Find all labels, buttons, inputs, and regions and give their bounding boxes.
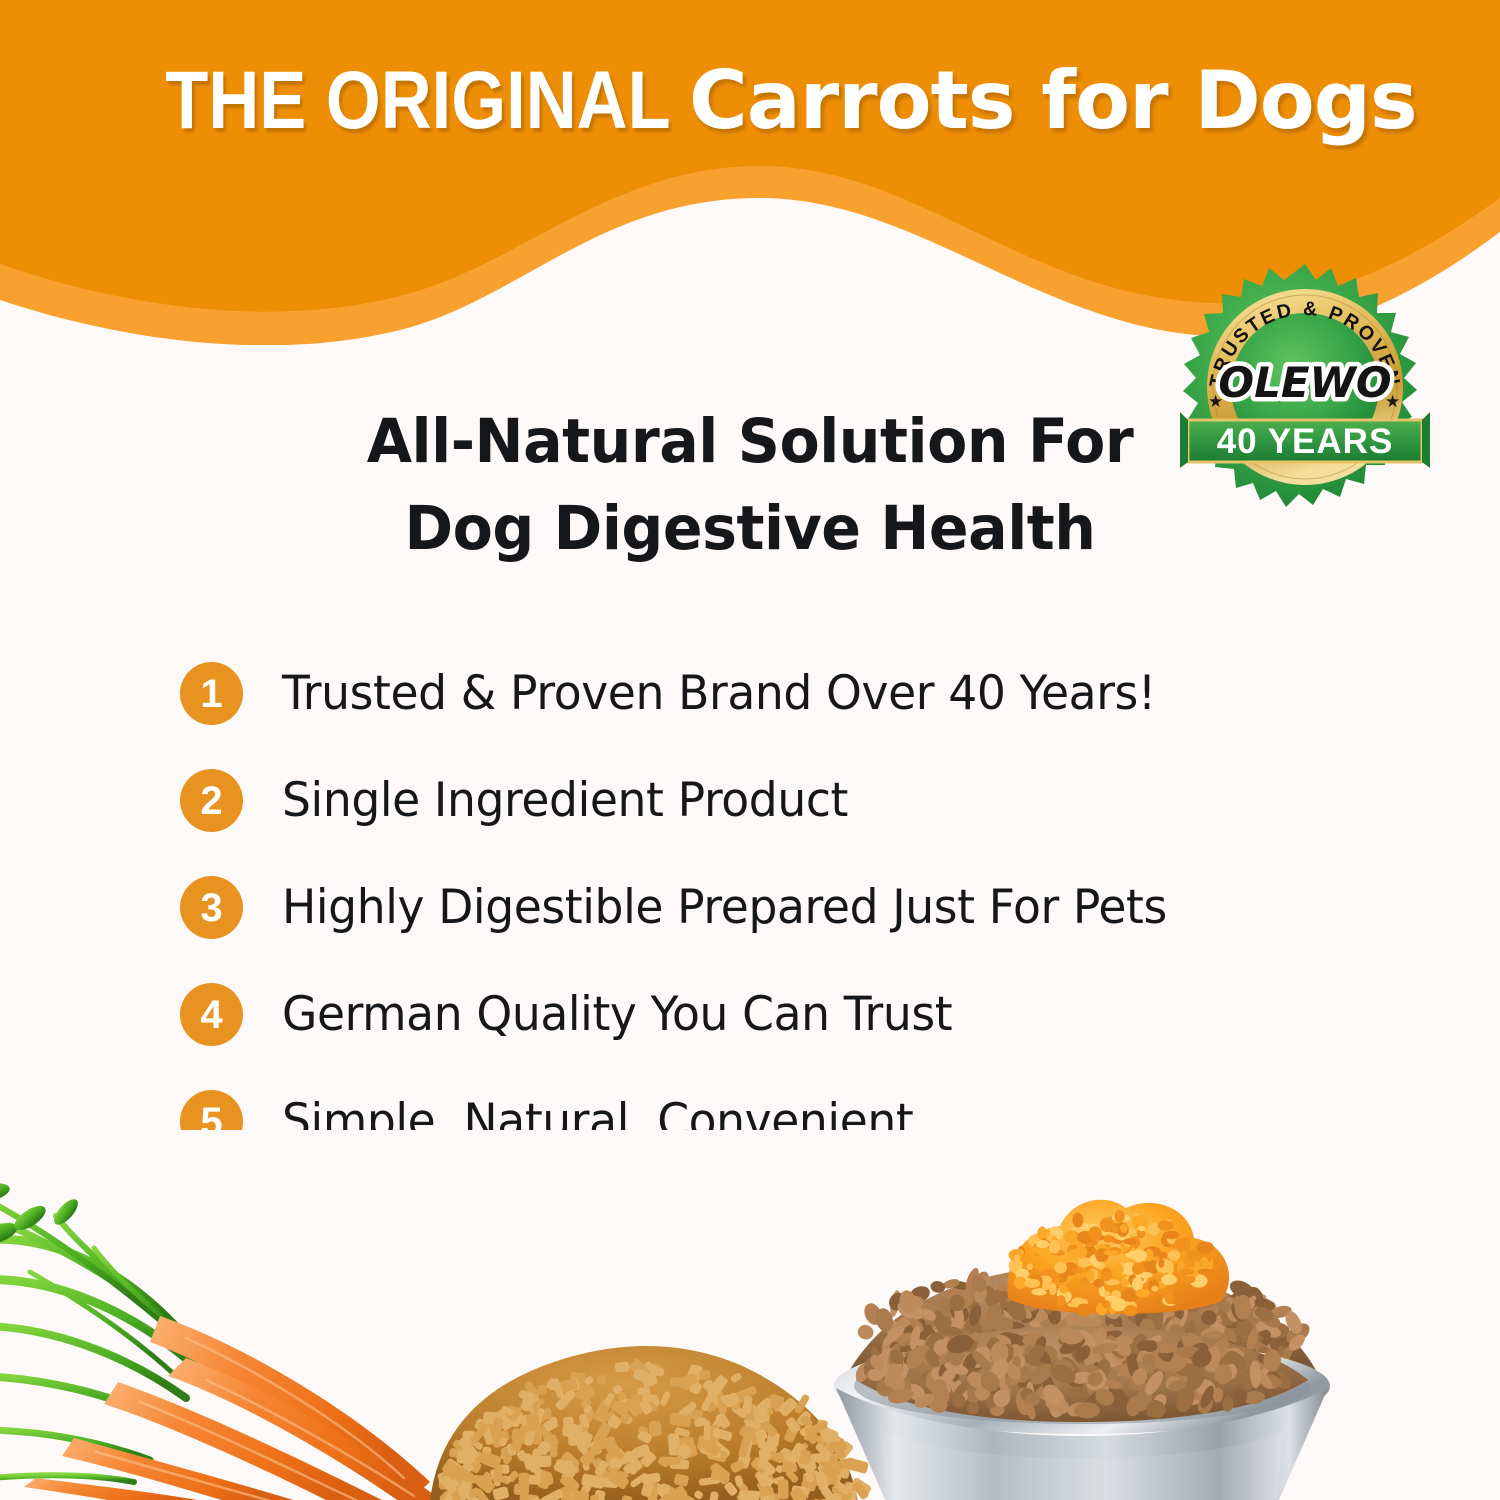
mash-crumb	[1175, 1239, 1191, 1252]
mash-crumb	[1071, 1267, 1083, 1273]
list-item: 3 Highly Digestible Prepared Just For Pe…	[180, 854, 1380, 961]
mash-crumb	[1027, 1263, 1033, 1270]
pellet	[615, 1361, 630, 1372]
mash-crumb	[1151, 1286, 1158, 1292]
subheading: All-Natural Solution For Dog Digestive H…	[30, 398, 1470, 572]
pellet	[651, 1489, 657, 1500]
pellet	[756, 1404, 768, 1415]
list-item-label: Single Ingredient Product	[282, 773, 848, 828]
mash-crumb	[1060, 1286, 1069, 1293]
mash-crumb	[1042, 1281, 1050, 1290]
title-carrots-for-dogs: Carrots for Dogs	[689, 54, 1417, 147]
list-number-badge: 2	[180, 769, 243, 832]
pellet	[761, 1486, 773, 1496]
pellet	[781, 1464, 797, 1472]
list-item: 1 Trusted & Proven Brand Over 40 Years!	[180, 640, 1380, 747]
mash-crumb	[1158, 1220, 1174, 1230]
list-number-badge: 3	[180, 876, 243, 939]
mash-crumb	[1185, 1276, 1195, 1283]
title-original: THE ORIGINAL	[166, 60, 671, 142]
mash-crumb	[1161, 1274, 1177, 1285]
pellet	[660, 1457, 680, 1466]
mash-crumb	[1112, 1225, 1118, 1234]
mash-crumb	[1115, 1263, 1123, 1277]
mash-crumb	[1114, 1210, 1124, 1222]
mash-crumb	[1024, 1279, 1040, 1288]
mash-crumb	[1123, 1238, 1137, 1245]
mash-crumb	[1196, 1241, 1214, 1253]
mash-crumb	[1124, 1305, 1138, 1316]
mash-crumb	[1056, 1295, 1065, 1306]
pellet	[775, 1452, 784, 1462]
mash-crumb	[1037, 1226, 1047, 1240]
pellet	[544, 1407, 552, 1419]
pellet	[828, 1441, 847, 1451]
mash-crumb	[1036, 1240, 1049, 1248]
product-photo-composition	[0, 1130, 1500, 1500]
page-title: THE ORIGINALCarrots for Dogs	[0, 60, 1500, 142]
mash-crumb	[1179, 1268, 1194, 1275]
mash-crumb	[1163, 1231, 1180, 1239]
pellet	[739, 1490, 760, 1500]
mash-crumb	[1164, 1290, 1173, 1304]
mash-crumb	[1049, 1240, 1060, 1254]
mash-crumb	[1077, 1303, 1093, 1316]
mash-crumb	[1121, 1278, 1129, 1287]
pellet	[517, 1482, 525, 1491]
pellet	[469, 1489, 477, 1498]
mash-crumb	[1093, 1279, 1104, 1288]
mash-crumb	[1101, 1267, 1112, 1281]
mash-crumb	[1138, 1226, 1146, 1231]
pellet	[537, 1385, 547, 1395]
mash-crumb	[1168, 1250, 1180, 1260]
mash-crumb	[1197, 1269, 1215, 1274]
pellet	[778, 1479, 789, 1499]
list-item: 4 German Quality You Can Trust	[180, 961, 1380, 1068]
mash-crumb	[1086, 1270, 1095, 1281]
mash-crumb	[1103, 1250, 1119, 1256]
mash-crumb	[1102, 1300, 1110, 1308]
mash-crumb	[1120, 1224, 1128, 1233]
mash-crumb	[1088, 1226, 1101, 1241]
subheading-line-2: Dog Digestive Health	[30, 485, 1470, 572]
mash-crumb	[1135, 1289, 1149, 1298]
mash-crumb	[1153, 1297, 1163, 1308]
list-item-label: German Quality You Can Trust	[282, 987, 952, 1042]
mash-crumb	[1073, 1213, 1084, 1228]
list-number-badge: 4	[180, 983, 243, 1046]
mash-crumb	[1132, 1263, 1144, 1275]
product-infographic: THE ORIGINALCarrots for Dogs	[0, 0, 1500, 1500]
list-item: 2 Single Ingredient Product	[180, 747, 1380, 854]
pellet	[562, 1416, 575, 1432]
pellet	[704, 1420, 711, 1441]
mash-crumb	[1158, 1252, 1167, 1260]
mash-crumb	[1054, 1262, 1067, 1274]
subheading-line-1: All-Natural Solution For	[367, 406, 1134, 477]
mash-crumb	[1050, 1226, 1060, 1235]
mash-crumb	[1075, 1245, 1087, 1258]
mash-crumb	[1111, 1299, 1126, 1311]
mash-crumb	[1049, 1283, 1057, 1295]
list-number-badge: 1	[180, 662, 243, 725]
benefits-list: 1 Trusted & Proven Brand Over 40 Years! …	[180, 640, 1380, 1175]
mash-crumb	[1134, 1252, 1144, 1263]
mash-crumb	[1200, 1257, 1208, 1266]
mash-crumb	[1158, 1259, 1164, 1268]
mash-crumb	[1014, 1255, 1020, 1262]
list-item-label: Highly Digestible Prepared Just For Pets	[282, 880, 1167, 935]
pellet	[456, 1450, 474, 1464]
mash-crumb	[1100, 1217, 1114, 1232]
list-item-label: Trusted & Proven Brand Over 40 Years!	[282, 666, 1156, 721]
mash-crumb	[1015, 1269, 1030, 1278]
